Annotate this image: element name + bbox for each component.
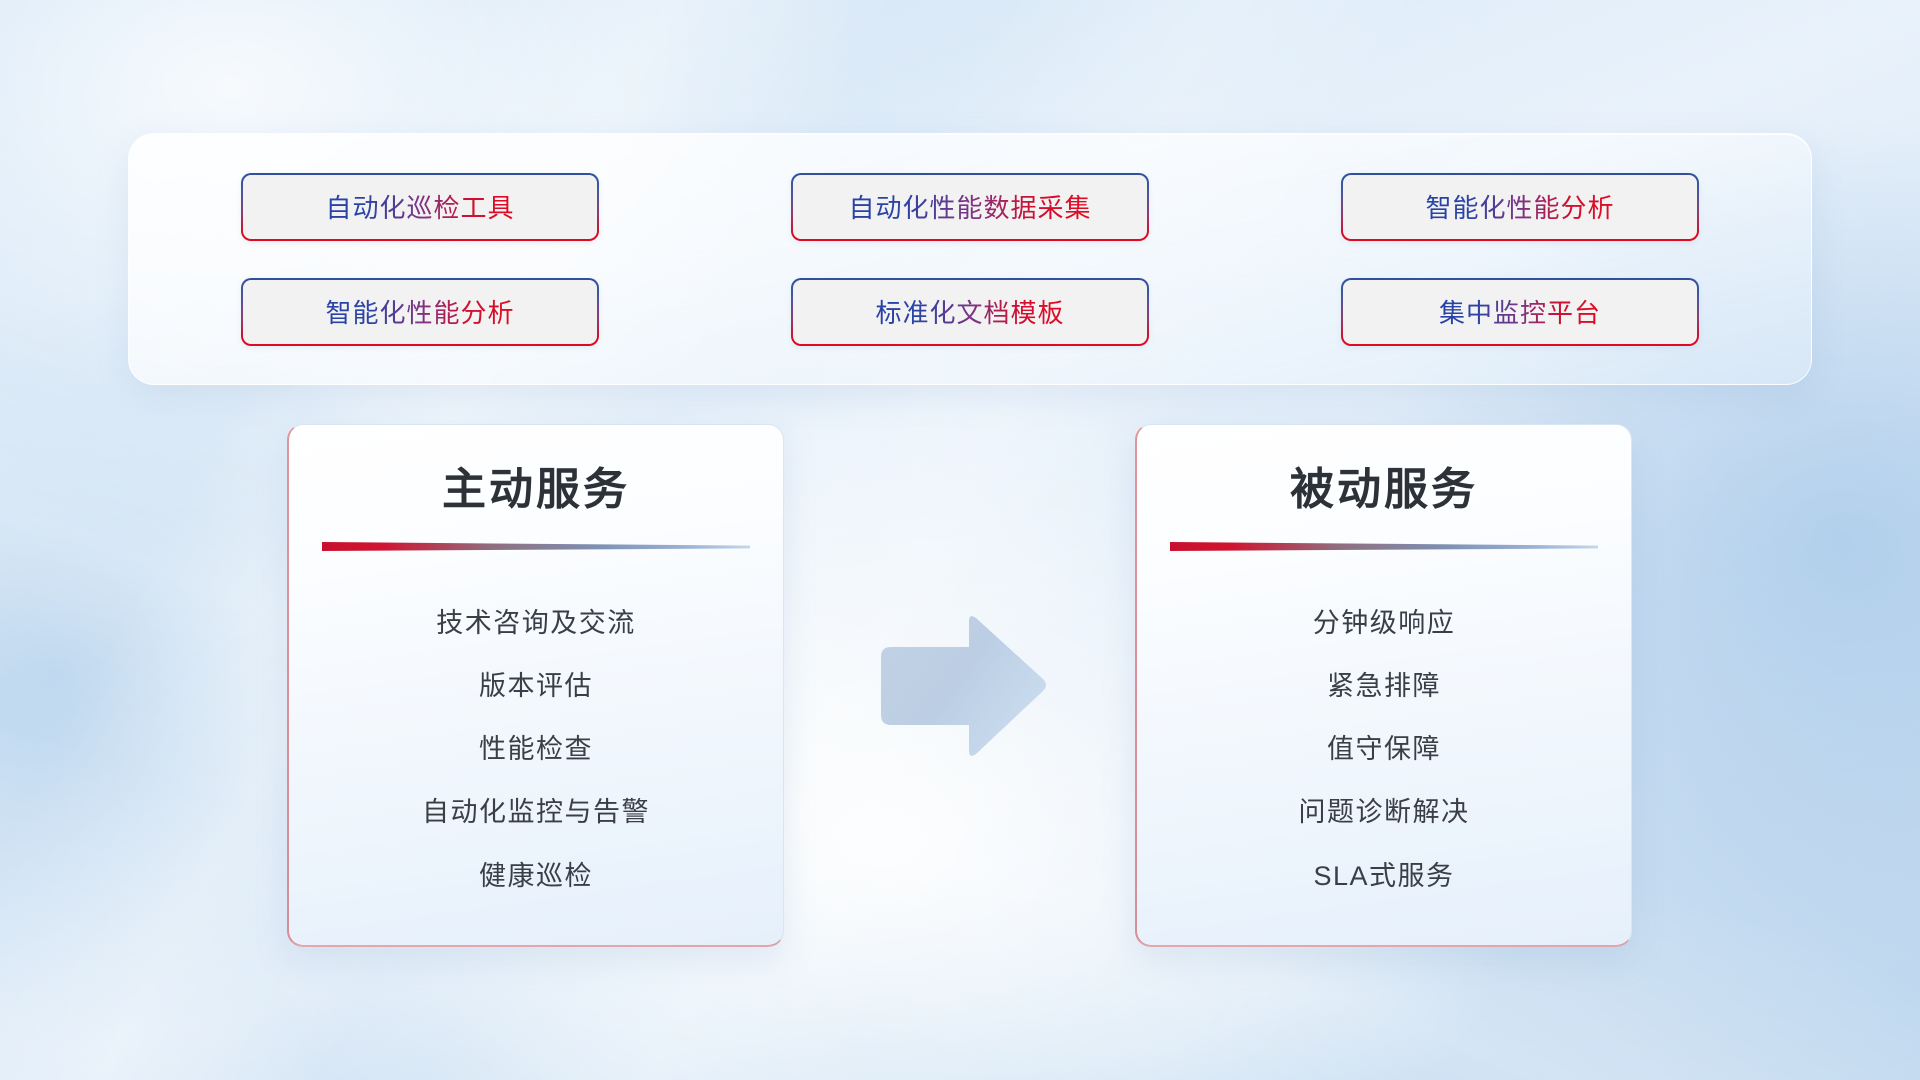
capability-pill-label: 标准化文档模板 bbox=[875, 293, 1064, 330]
service-card-reactive: 被动服务 分钟级响应 紧急排障 值守保障 bbox=[1135, 424, 1632, 947]
service-item-list: 分钟级响应 紧急排障 值守保障 问题诊断解决 SLA式服务 bbox=[1171, 576, 1597, 917]
capability-pill-label: 智能化性能分析 bbox=[1425, 188, 1614, 225]
service-card-proactive: 主动服务 技术咨询及交流 版本评估 性能检查 bbox=[287, 424, 784, 947]
capability-pill-label: 集中监控平台 bbox=[1439, 293, 1601, 330]
service-item: 问题诊断解决 bbox=[1299, 790, 1470, 829]
service-item: 技术咨询及交流 bbox=[436, 601, 636, 640]
capability-pill-label: 自动化巡检工具 bbox=[325, 188, 514, 225]
card-title: 被动服务 bbox=[1290, 465, 1478, 514]
arrow-right-icon bbox=[873, 613, 1049, 761]
capability-pill[interactable]: 智能化性能分析 bbox=[241, 278, 599, 346]
service-item: SLA式服务 bbox=[1313, 854, 1454, 893]
service-item: 版本评估 bbox=[479, 664, 593, 703]
service-item: 性能检查 bbox=[479, 727, 593, 766]
capability-panel: 自动化巡检工具 自动化性能数据采集 智能化性能分析 智能化性能分析 标准化文档模… bbox=[128, 133, 1812, 385]
title-divider bbox=[1170, 540, 1598, 554]
capability-pill[interactable]: 标准化文档模板 bbox=[791, 278, 1149, 346]
service-item: 自动化监控与告警 bbox=[422, 790, 650, 829]
service-item-list: 技术咨询及交流 版本评估 性能检查 自动化监控与告警 健康巡检 bbox=[323, 576, 749, 917]
capability-pill-label: 智能化性能分析 bbox=[325, 293, 514, 330]
title-divider bbox=[322, 540, 750, 554]
card-title: 主动服务 bbox=[442, 465, 630, 514]
capability-pill[interactable]: 集中监控平台 bbox=[1341, 278, 1699, 346]
capability-pill[interactable]: 自动化性能数据采集 bbox=[791, 173, 1149, 241]
service-item: 分钟级响应 bbox=[1313, 601, 1456, 640]
service-item: 健康巡检 bbox=[479, 854, 593, 893]
service-item: 紧急排障 bbox=[1327, 664, 1441, 703]
capability-pill[interactable]: 自动化巡检工具 bbox=[241, 173, 599, 241]
slide-canvas: 自动化巡检工具 自动化性能数据采集 智能化性能分析 智能化性能分析 标准化文档模… bbox=[0, 0, 1920, 1080]
capability-pill[interactable]: 智能化性能分析 bbox=[1341, 173, 1699, 241]
service-item: 值守保障 bbox=[1327, 727, 1441, 766]
capability-pill-label: 自动化性能数据采集 bbox=[848, 188, 1091, 225]
